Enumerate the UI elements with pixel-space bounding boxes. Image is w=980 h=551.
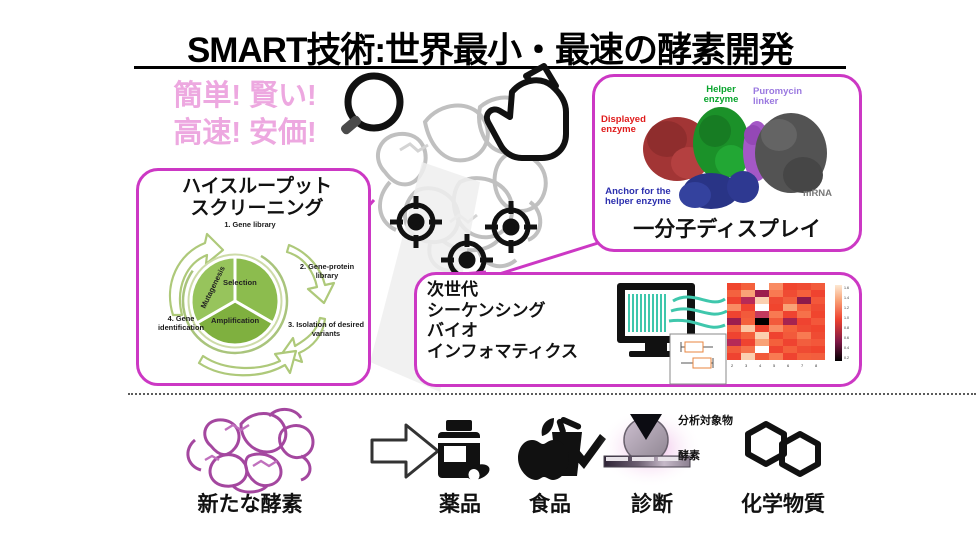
- svg-text:1.6: 1.6: [844, 286, 849, 290]
- sensor-analyte-label: 分析対象物: [678, 412, 733, 428]
- application-label-diagnostics: 診断: [607, 488, 697, 518]
- slogan-block: 簡単! 賢い! 高速! 安価!: [140, 78, 350, 152]
- svg-text:0.6: 0.6: [844, 336, 849, 340]
- svg-text:1.0: 1.0: [844, 316, 849, 320]
- label-helper-enzyme: Helper enzyme: [691, 85, 751, 106]
- heatmap-graphic: 1.61.4 1.21.0 0.80.6 0.40.2 234 567 8: [727, 283, 859, 383]
- slide-canvas: SMART技術:世界最小・最速の酵素開発 簡単! 賢い! 高速! 安価!: [0, 0, 980, 551]
- label-mrna: mRNA: [803, 189, 847, 199]
- cycle-step-4: 4. Gene identification: [145, 315, 217, 332]
- hts-title-line-2: スクリーニング: [147, 198, 367, 220]
- hts-title-line-1: ハイスループット: [147, 176, 367, 198]
- ngs-title-line-2: シーケンシング: [427, 301, 617, 322]
- svg-text:1.2: 1.2: [844, 306, 849, 310]
- new-enzyme-structure: [175, 400, 345, 490]
- ngs-title: 次世代 シーケンシング バイオ インフォマティクス: [427, 280, 617, 363]
- svg-text:4: 4: [759, 363, 762, 368]
- box-plot-graphic: [669, 333, 727, 385]
- medicine-bottle-icon: [430, 418, 500, 484]
- sector-label-amplification: Amplification: [211, 316, 259, 325]
- cycle-step-2: 2. Gene-protein library: [294, 263, 360, 280]
- food-icon: [512, 414, 598, 484]
- directed-evolution-cycle: Selection Amplification Mutagenesis 1. G…: [139, 223, 368, 383]
- slogan-line-2: 高速! 安価!: [140, 115, 350, 152]
- application-label-chemicals: 化学物質: [723, 488, 843, 518]
- application-label-food: 食品: [505, 488, 595, 518]
- svg-text:1.4: 1.4: [844, 296, 849, 300]
- svg-text:2: 2: [731, 363, 734, 368]
- high-throughput-screening-callout: ハイスループット スクリーニング: [136, 168, 371, 386]
- slogan-line-1: 簡単! 賢い!: [140, 78, 350, 115]
- sensor-enzyme-label: 酵素: [678, 447, 700, 463]
- ngs-bioinformatics-callout: 次世代 シーケンシング バイオ インフォマティクス: [414, 272, 862, 387]
- ngs-title-line-1: 次世代: [427, 280, 617, 301]
- svg-text:7: 7: [801, 363, 804, 368]
- new-enzyme-label: 新たな酵素: [160, 488, 340, 518]
- label-anchor-helper-enzyme: Anchor for the helper enzyme: [605, 187, 671, 208]
- cycle-step-1: 1. Gene library: [195, 221, 305, 230]
- chemical-structure-icon: [742, 418, 826, 484]
- cycle-diagram: Selection Amplification Mutagenesis: [139, 223, 368, 383]
- svg-text:0.2: 0.2: [844, 356, 849, 360]
- label-puromycin-linker: Puromycin linker: [753, 87, 819, 108]
- single-molecule-display-caption: 一分子ディスプレイ: [595, 213, 859, 243]
- svg-text:5: 5: [773, 363, 776, 368]
- svg-text:8: 8: [815, 363, 818, 368]
- single-molecule-display-callout: Helper enzyme Puromycin linker Displayed…: [592, 74, 862, 252]
- application-label-pharmaceuticals: 薬品: [415, 488, 505, 518]
- pointing-hand-icon: [487, 66, 566, 158]
- svg-text:0.8: 0.8: [844, 326, 849, 330]
- hts-title: ハイスループット スクリーニング: [147, 176, 367, 220]
- label-displayed-enzyme: Displayed enzyme: [601, 115, 663, 136]
- section-divider: [128, 393, 976, 395]
- svg-text:3: 3: [745, 363, 748, 368]
- sector-label-selection: Selection: [223, 278, 257, 287]
- svg-text:0.4: 0.4: [844, 346, 849, 350]
- cycle-step-3: 3. Isolation of desired variants: [287, 321, 365, 338]
- ngs-title-line-3: バイオ: [427, 321, 617, 342]
- svg-text:6: 6: [787, 363, 790, 368]
- magnifier-icon: [339, 76, 400, 136]
- ngs-title-line-4: インフォマティクス: [427, 342, 617, 363]
